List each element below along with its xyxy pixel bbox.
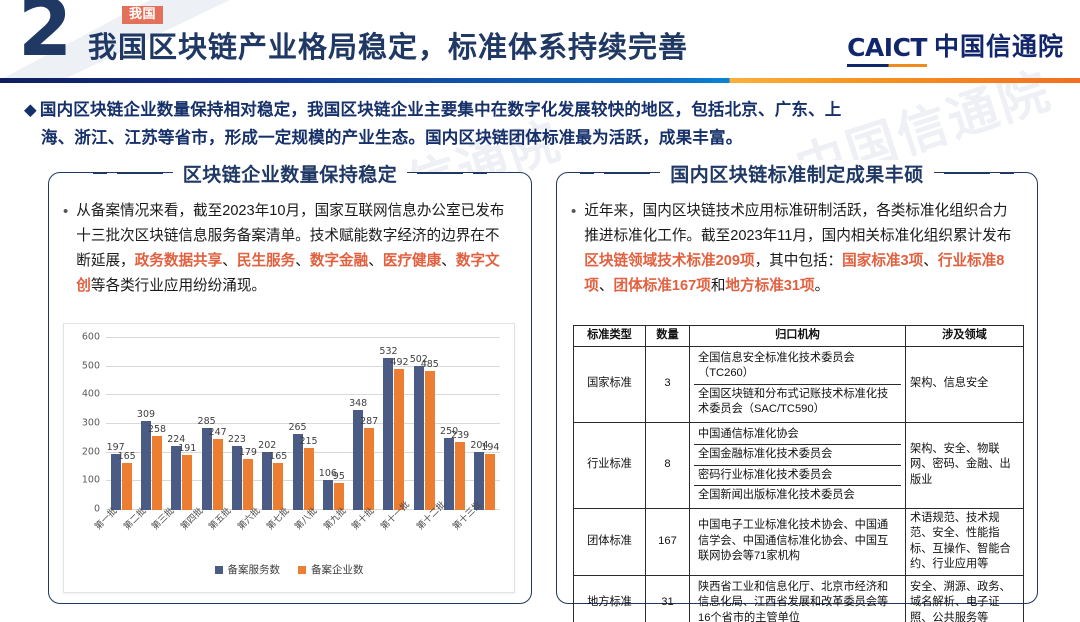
cell-standard-type: 行业标准: [574, 422, 646, 508]
chart-bar: 485: [425, 371, 435, 510]
chart-legend-label: 备案企业数: [311, 562, 364, 577]
lp-hi2: 民生服务: [237, 253, 295, 269]
cell-count: 8: [646, 422, 690, 508]
table-row: 行业标准8中国通信标准化协会全国金融标准化技术委员会密码行业标准化技术委员会全国…: [574, 422, 1024, 508]
chart-legend-item[interactable]: 备案企业数: [298, 562, 364, 577]
organization-entry: 密码行业标准化技术委员会: [694, 466, 901, 487]
chart-bar-value-label: 532: [379, 346, 397, 357]
table-head: 标准类型数量归口机构涉及领域: [574, 326, 1024, 347]
rp-p3: 和: [711, 278, 726, 294]
chart-bar-value-label: 191: [178, 443, 196, 454]
slide-root: 中国信通院 中国信通院 中国信通院 CAICT 2 我国 我国区块链产业格局稳定…: [0, 0, 1080, 622]
chart-bar-group: 348287: [349, 338, 379, 510]
chart-y-tick-label: 400: [82, 389, 100, 400]
section-tag: 我国: [122, 6, 163, 24]
rp-hi1: 区块链领域技术标准209项: [584, 253, 754, 269]
chart-bar-value-label: 202: [258, 440, 276, 451]
rp-hi2: 国家标准3项: [842, 253, 923, 269]
chart-legend-label: 备案服务数: [228, 562, 281, 577]
diamond-bullet-icon: ◆: [24, 101, 37, 119]
left-bullet-text: 从备案情况来看，截至2023年10月，国家互联网信息办公室已发布十三批次区块链信…: [76, 199, 513, 299]
lead-text-1: 国内区块链企业数量保持相对稳定，我国区块链企业主要集中在数字化发展较快的地区，包…: [40, 101, 842, 119]
chart-bar: 287: [364, 428, 374, 510]
bullet-dot-icon: •: [571, 199, 576, 299]
chart-legend-swatch: [298, 566, 306, 574]
logo-chinese-text: 中国信通院: [934, 27, 1064, 67]
chart-bar: 502: [414, 366, 424, 510]
chart-y-tick-label: 0: [94, 504, 100, 515]
lp-sep4: 、: [441, 253, 456, 269]
chart-bar-group: 532492: [379, 338, 409, 510]
cell-standard-type: 团体标准: [574, 508, 646, 575]
chart-bar-value-label: 309: [137, 409, 155, 420]
lp-sep2: 、: [295, 253, 310, 269]
chart-bar-value-label: 194: [481, 442, 499, 453]
chart-x-axis-labels: 第一批第二批第三批第四批第五批第六批第七批第八批第九批第十批第十一批第十二批第十…: [106, 511, 500, 559]
organization-entry: 全国信息安全标准化技术委员会（TC260）: [694, 349, 901, 385]
chart-bar: 106: [323, 480, 333, 510]
cell-organizations: 全国信息安全标准化技术委员会（TC260）全国区块链和分布式记账技术标准化技术委…: [690, 346, 906, 422]
chart-bar: 250: [444, 438, 454, 510]
chart-bar: 179: [243, 459, 253, 510]
chart-y-tick-label: 600: [82, 332, 100, 343]
chart-bar-group: 202165: [258, 338, 288, 510]
lp-hi3: 数字金融: [310, 253, 368, 269]
chart-bar-value-label: 485: [421, 359, 439, 370]
chart-bar-value-label: 258: [148, 424, 166, 435]
panel-right-body: • 近年来，国内区块链技术应用标准研制活跃，各类标准化组织合力推进标准化工作。截…: [557, 173, 1037, 309]
chart-y-tick-label: 100: [82, 475, 100, 486]
chart-bar-group: 265215: [288, 338, 318, 510]
lp-sep1: 、: [222, 253, 237, 269]
chart-legend-item[interactable]: 备案服务数: [215, 562, 281, 577]
lead-line-1: ◆国内区块链企业数量保持相对稳定，我国区块链企业主要集中在数字化发展较快的地区，…: [24, 96, 1062, 124]
chart-bar: 215: [304, 448, 314, 510]
cell-standard-type: 地方标准: [574, 575, 646, 622]
chart-bar: 247: [213, 439, 223, 510]
cell-organizations: 中国通信标准化协会全国金融标准化技术委员会密码行业标准化技术委员会全国新闻出版标…: [690, 422, 906, 508]
chart-y-tick-label: 300: [82, 418, 100, 429]
table-column-header: 归口机构: [690, 326, 906, 347]
table-body: 国家标准3全国信息安全标准化技术委员会（TC260）全国区块链和分布式记账技术标…: [574, 346, 1024, 622]
cell-fields: 安全、溯源、政务、域名解析、电子证照、公共服务等: [906, 575, 1024, 622]
chart-bar-group: 197165: [106, 338, 136, 510]
cell-count: 31: [646, 575, 690, 622]
slide-header: 2 我国 我国区块链产业格局稳定，标准体系持续完善 CAICT 中国信通院: [0, 0, 1080, 80]
chart-bar-group: 502485: [409, 338, 439, 510]
panel-left-body: • 从备案情况来看，截至2023年10月，国家互联网信息办公室已发布十三批次区块…: [49, 173, 531, 309]
chart-legend: 备案服务数备案企业数: [64, 562, 514, 577]
chart-bar-group: 309258: [136, 338, 166, 510]
table-row: 地方标准31陕西省工业和信息化厅、北京市经济和信息化局、江西省发展和改革委员会等…: [574, 575, 1024, 622]
chart-bar-groups: 1971653092582241912852472231792021652652…: [106, 338, 500, 510]
chart-bar-value-label: 165: [118, 451, 136, 462]
chart-bar: 532: [383, 358, 393, 511]
bullet-dot-icon: •: [63, 199, 68, 299]
cell-count: 3: [646, 346, 690, 422]
chart-bar-value-label: 492: [390, 357, 408, 368]
rp-sep2: 、: [599, 278, 614, 294]
cell-organizations: 中国电子工业标准化技术协会、中国通信学会、中国通信标准化协会、中国互联网协会等7…: [690, 508, 906, 575]
table-row: 团体标准167中国电子工业标准化技术协会、中国通信学会、中国通信标准化协会、中国…: [574, 508, 1024, 575]
cell-fields: 架构、信息安全: [906, 346, 1024, 422]
rp-hi5: 地方标准31项: [725, 278, 814, 294]
cell-count: 167: [646, 508, 690, 575]
chart-bar-value-label: 223: [228, 434, 246, 445]
page-title: 我国区块链产业格局稳定，标准体系持续完善: [88, 24, 688, 66]
chart-bar-value-label: 348: [349, 398, 367, 409]
chart-bar-group: 223179: [227, 338, 257, 510]
rp-p1: 近年来，国内区块链技术应用标准研制活跃，各类标准化组织合力推进标准化工作。截至2…: [584, 203, 1011, 244]
table-row: 国家标准3全国信息安全标准化技术委员会（TC260）全国区块链和分布式记账技术标…: [574, 346, 1024, 422]
chart-bar: 285: [202, 428, 212, 510]
chart-bar-value-label: 95: [333, 471, 345, 482]
panel-standards: 国内区块链标准制定成果丰硕 • 近年来，国内区块链技术应用标准研制活跃，各类标准…: [556, 172, 1038, 604]
organization-entry: 全国新闻出版标准化技术委员会: [694, 486, 901, 506]
chart-y-tick-label: 500: [82, 360, 100, 371]
right-bullet-text: 近年来，国内区块链技术应用标准研制活跃，各类标准化组织合力推进标准化工作。截至2…: [584, 199, 1019, 299]
chart-bar: 165: [122, 463, 132, 510]
organization-entry: 全国区块链和分布式记账技术标准化技术委员会（SAC/TC590）: [694, 385, 901, 420]
chart-bar-group: 285247: [197, 338, 227, 510]
standards-table-wrapper: 标准类型数量归口机构涉及领域 国家标准3全国信息安全标准化技术委员会（TC260…: [573, 325, 1023, 622]
caict-logo: CAICT 中国信通院: [847, 27, 1064, 67]
left-bullet-item: • 从备案情况来看，截至2023年10月，国家互联网信息办公室已发布十三批次区块…: [63, 199, 513, 299]
cell-standard-type: 国家标准: [574, 346, 646, 422]
chart-bar: 258: [152, 436, 162, 510]
chart-bar: 239: [455, 442, 465, 511]
lp-hi4: 医疗健康: [383, 253, 441, 269]
right-bullet-item: • 近年来，国内区块链技术应用标准研制活跃，各类标准化组织合力推进标准化工作。截…: [571, 199, 1019, 299]
lp-sep3: 、: [368, 253, 383, 269]
panel-enterprise-count: 区块链企业数量保持稳定 • 从备案情况来看，截至2023年10月，国家互联网信息…: [48, 172, 532, 604]
chart-bar-group: 204194: [470, 338, 500, 510]
organization-entry: 中国电子工业标准化技术协会、中国通信学会、中国通信标准化协会、中国互联网协会等7…: [694, 516, 901, 567]
chart-bar-value-label: 287: [360, 416, 378, 427]
organization-entry: 全国金融标准化技术委员会: [694, 445, 901, 466]
logo-latin-text: CAICT: [847, 33, 927, 67]
chart-bar: 194: [485, 454, 495, 510]
lp-p2: 等各类行业应用纷纷涌现。: [91, 278, 266, 294]
chart-bar-value-label: 165: [269, 451, 287, 462]
chart-bar: 191: [182, 455, 192, 510]
lp-hi1: 政务数据共享: [135, 253, 223, 269]
table-header-row: 标准类型数量归口机构涉及领域: [574, 326, 1024, 347]
chart-bar-value-label: 239: [451, 430, 469, 441]
filing-bar-chart: 0100200300400500600 19716530925822419128…: [63, 323, 515, 593]
chart-bar: 197: [111, 454, 121, 510]
cell-organizations: 陕西省工业和信息化厅、北京市经济和信息化局、江西省发展和改革委员会等16个省市的…: [690, 575, 906, 622]
table-column-header: 涉及领域: [906, 326, 1024, 347]
rp-p2: ，其中包括：: [755, 253, 843, 269]
header-divider: [0, 78, 1080, 83]
chart-bar-value-label: 215: [299, 436, 317, 447]
rp-p4: 。: [815, 278, 830, 294]
cell-fields: 术语规范、技术规范、安全、性能指标、互操作、智能合约、行业应用等: [906, 508, 1024, 575]
chart-bar-group: 10695: [318, 338, 348, 510]
chart-bar-group: 224191: [167, 338, 197, 510]
chart-bar-value-label: 265: [288, 422, 306, 433]
chart-legend-swatch: [215, 566, 223, 574]
chart-bar-value-label: 285: [198, 416, 216, 427]
standards-table: 标准类型数量归口机构涉及领域 国家标准3全国信息安全标准化技术委员会（TC260…: [573, 325, 1024, 622]
slide-number: 2: [18, 0, 70, 68]
chart-plot-area: 0100200300400500600 19716530925822419128…: [106, 338, 500, 510]
chart-y-tick-label: 200: [82, 446, 100, 457]
rp-sep1: 、: [923, 253, 938, 269]
chart-bar: 492: [394, 369, 404, 510]
chart-bar-group: 250239: [439, 338, 469, 510]
lead-line-2: 海、浙江、江苏等省市，形成一定规模的产业生态。国内区块链团体标准最为活跃，成果丰…: [24, 124, 1062, 152]
table-column-header: 数量: [646, 326, 690, 347]
organization-entry: 中国通信标准化协会: [694, 425, 901, 446]
chart-bar: 224: [171, 446, 181, 510]
lead-bullet: ◆国内区块链企业数量保持相对稳定，我国区块链企业主要集中在数字化发展较快的地区，…: [24, 96, 1062, 152]
organization-entry: 陕西省工业和信息化厅、北京市经济和信息化局、江西省发展和改革委员会等16个省市的…: [694, 578, 901, 622]
chart-bar-value-label: 247: [209, 427, 227, 438]
rp-hi4: 团体标准167项: [613, 278, 710, 294]
table-column-header: 标准类型: [574, 326, 646, 347]
cell-fields: 架构、安全、物联网、密码、金融、出版业: [906, 422, 1024, 508]
chart-bar-value-label: 179: [239, 447, 257, 458]
